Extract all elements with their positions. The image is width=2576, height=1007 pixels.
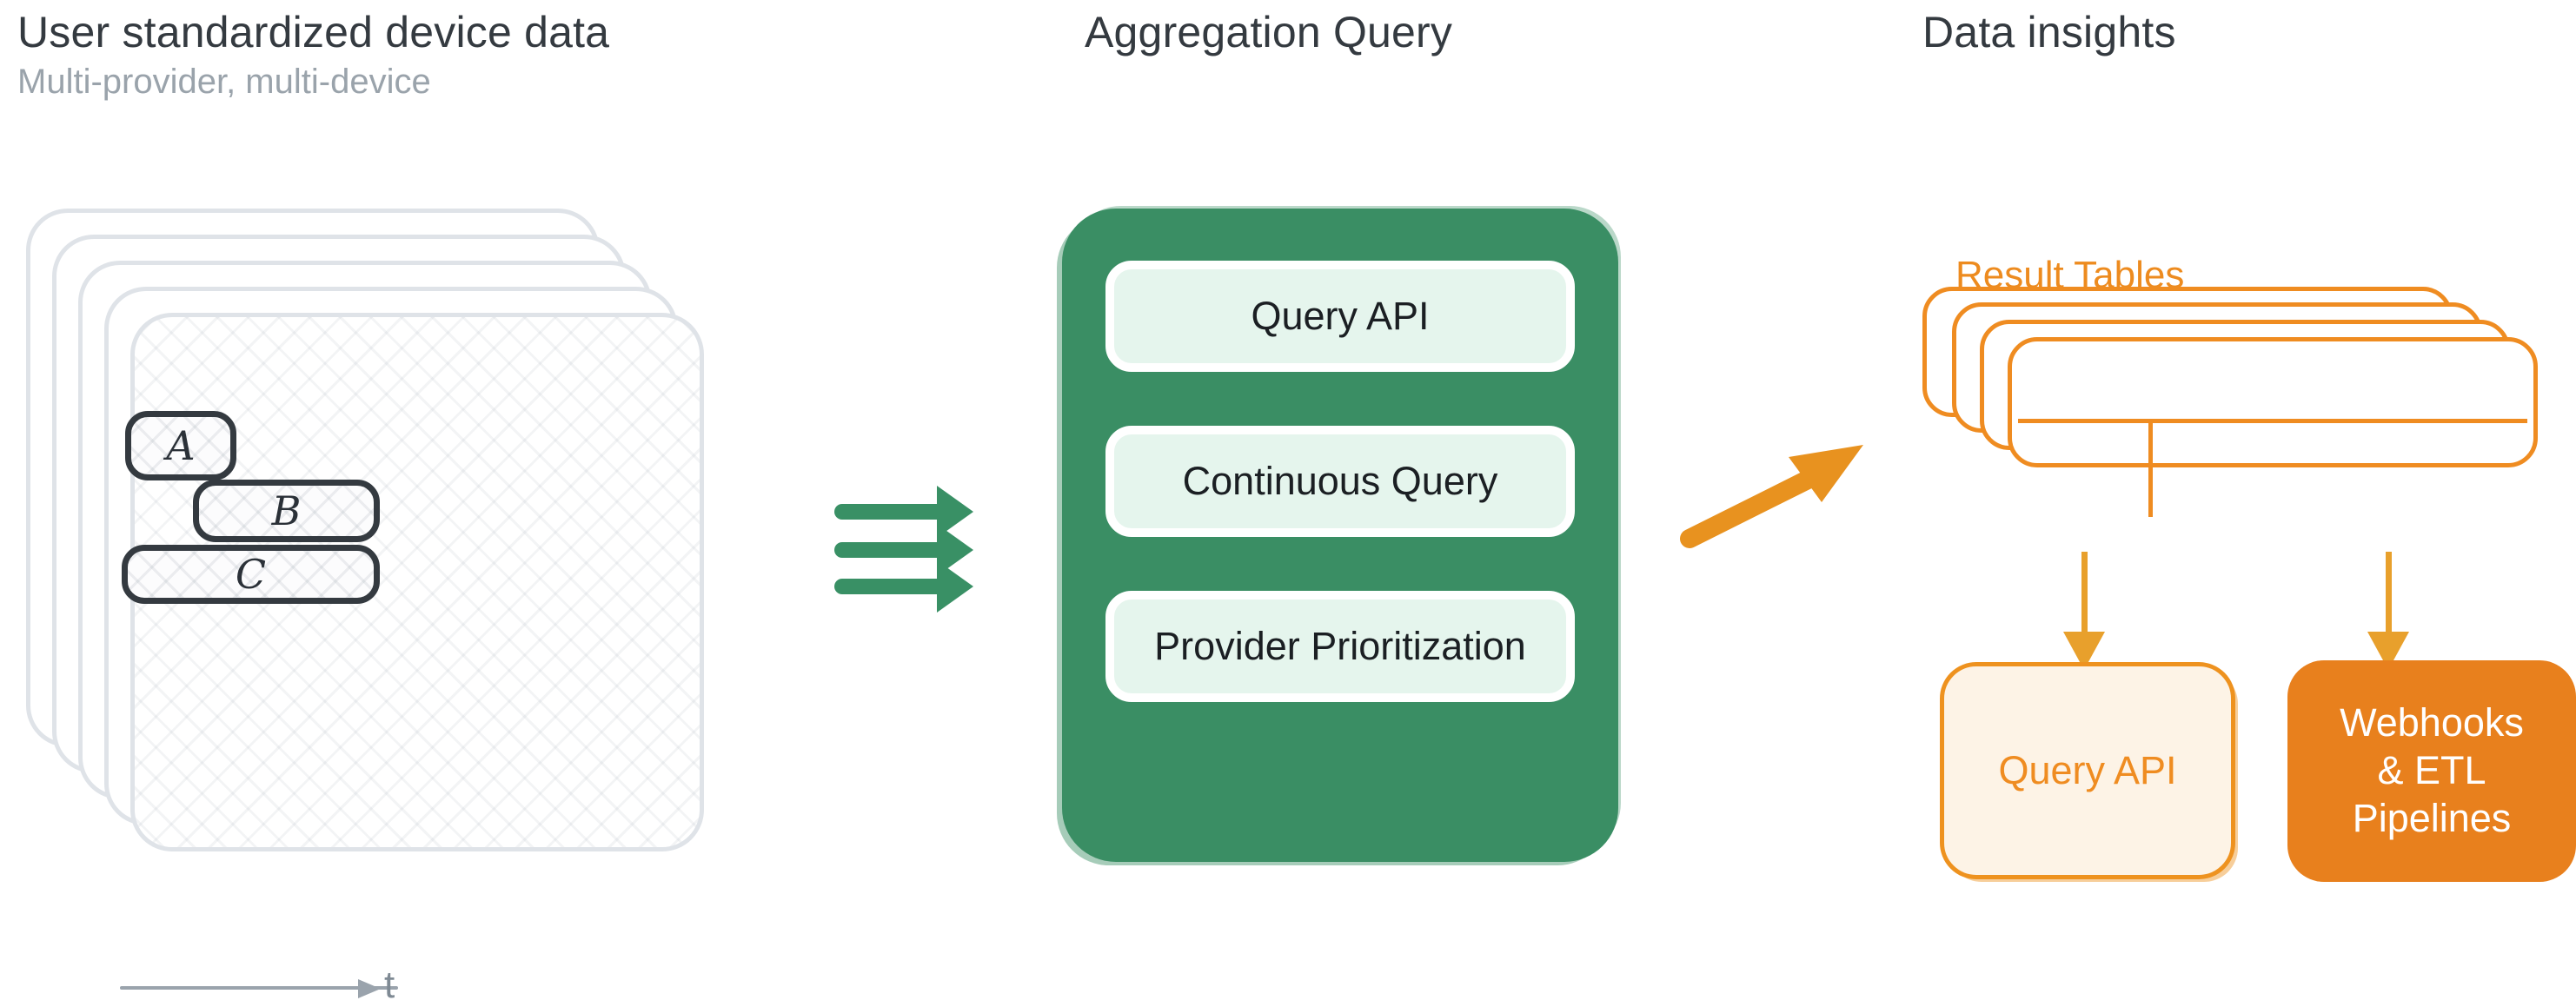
result-table-header-divider bbox=[2018, 419, 2527, 423]
result-table-column-divider bbox=[2148, 421, 2153, 517]
flow-arrow-3-shaft bbox=[834, 579, 949, 594]
triple-right-arrow-icon bbox=[834, 487, 1034, 643]
device-bar-c-label: C bbox=[236, 551, 266, 598]
device-data-card-stack: A B C t bbox=[17, 200, 817, 886]
outcome-box-webhooks-line1: Webhooks bbox=[2340, 699, 2524, 747]
device-bar-c: C bbox=[122, 545, 380, 604]
flow-arrow-1-shaft bbox=[834, 504, 949, 520]
aggregation-card-provider-prioritization-label: Provider Prioritization bbox=[1154, 624, 1526, 669]
aggregation-card-query-api-label: Query API bbox=[1251, 294, 1429, 339]
outcome-box-webhooks-line2: & ETL bbox=[2377, 747, 2486, 795]
diagram-canvas: User standardized device data Multi-prov… bbox=[0, 0, 2576, 886]
result-table-card-4 bbox=[2008, 337, 2538, 467]
aggregation-query-panel: Query API Continuous Query Provider Prio… bbox=[1062, 209, 1618, 862]
time-axis-line bbox=[120, 986, 398, 990]
aggregation-card-provider-prioritization[interactable]: Provider Prioritization bbox=[1105, 591, 1575, 702]
device-bar-a-label: A bbox=[166, 422, 195, 469]
outcome-box-query-api[interactable]: Query API bbox=[1940, 662, 2235, 879]
outcome-box-webhooks-line3: Pipelines bbox=[2353, 795, 2512, 843]
result-tables-stack bbox=[1922, 287, 2576, 513]
diagonal-arrow-shaft bbox=[1690, 480, 1808, 539]
right-column-title: Data insights bbox=[1922, 7, 2176, 57]
down-arrow-2-shaft bbox=[2386, 552, 2392, 635]
device-bar-b-label: B bbox=[272, 487, 302, 534]
device-bar-b: B bbox=[193, 480, 380, 542]
center-column-title: Aggregation Query bbox=[1085, 7, 1452, 57]
down-arrow-1-shaft bbox=[2081, 552, 2088, 635]
time-axis-label: t bbox=[384, 964, 395, 1007]
outcome-box-webhooks-etl[interactable]: Webhooks & ETL Pipelines bbox=[2287, 660, 2576, 882]
outcome-box-query-api-label: Query API bbox=[1998, 748, 2176, 793]
aggregation-card-continuous-query[interactable]: Continuous Query bbox=[1105, 426, 1575, 537]
aggregation-card-query-api[interactable]: Query API bbox=[1105, 261, 1575, 372]
left-column-subtitle: Multi-provider, multi-device bbox=[17, 63, 431, 102]
flow-arrow-2-shaft bbox=[834, 542, 949, 558]
diagonal-up-right-arrow-icon bbox=[1677, 417, 1886, 565]
device-bar-a: A bbox=[125, 411, 236, 480]
time-axis-arrow-icon bbox=[358, 979, 381, 998]
flow-arrow-3-head bbox=[937, 560, 973, 613]
left-column-title: User standardized device data bbox=[17, 7, 609, 57]
aggregation-card-continuous-query-label: Continuous Query bbox=[1183, 459, 1498, 504]
